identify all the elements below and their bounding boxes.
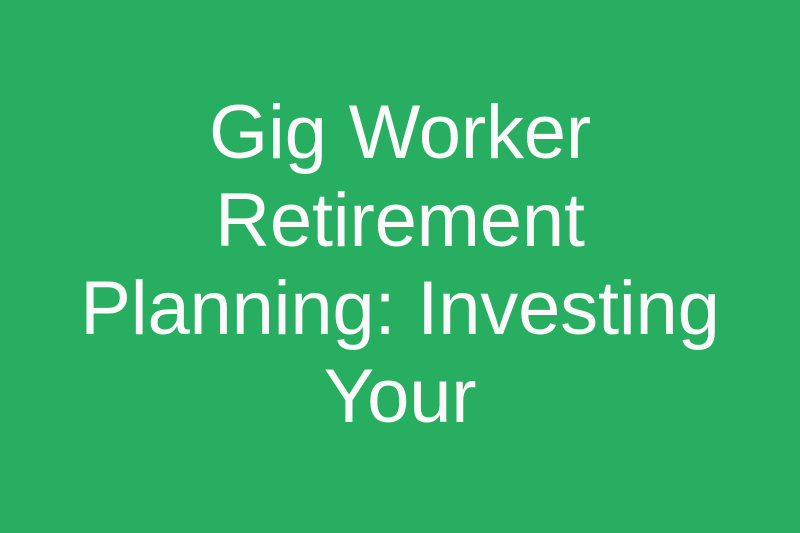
featured-image-card: Gig Worker Retirement Planning: Investin…: [0, 0, 800, 533]
title-block: Gig Worker Retirement Planning: Investin…: [50, 89, 750, 441]
page-title: Gig Worker Retirement Planning: Investin…: [60, 89, 740, 441]
